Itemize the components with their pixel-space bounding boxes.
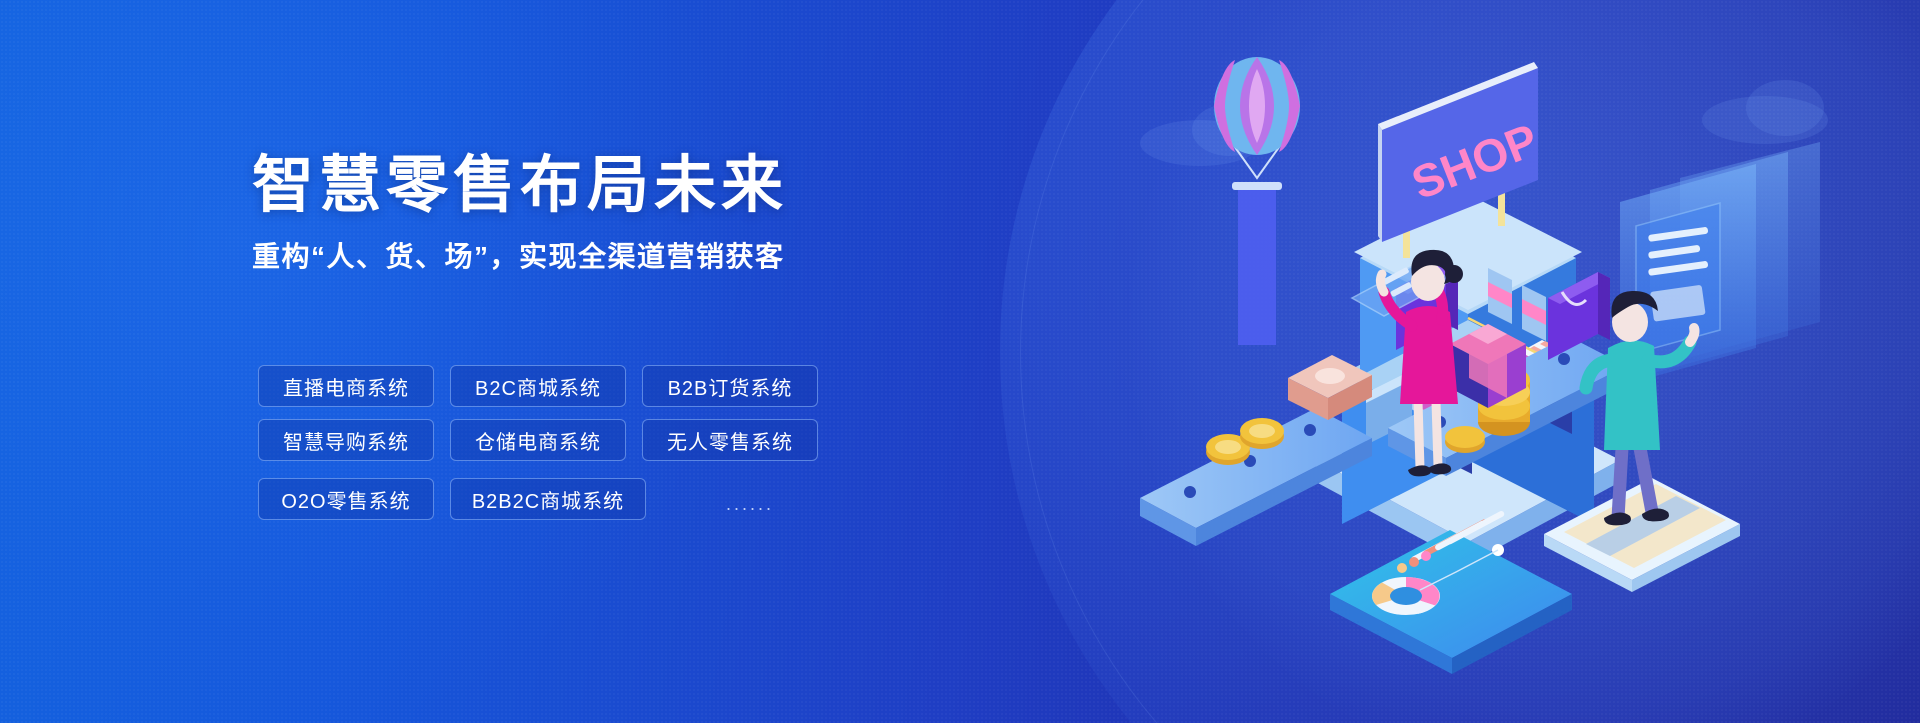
page-title: 智慧零售布局未来 — [252, 150, 972, 221]
solution-tag-grid: 直播电商系统 B2C商城系统 B2B订货系统 智慧导购系统 仓储电商系统 无人零… — [258, 365, 898, 537]
hero-copy: 智慧零售布局未来 重构“人、货、场”，实现全渠道营销获客 — [252, 150, 972, 276]
tag-more-ellipsis: ...... — [662, 473, 838, 525]
tag-o2o-retail[interactable]: O2O零售系统 — [258, 478, 434, 520]
tag-b2b2c-mall[interactable]: B2B2C商城系统 — [450, 478, 646, 520]
left-glow — [0, 0, 740, 723]
tag-row: 智慧导购系统 仓储电商系统 无人零售系统 — [258, 419, 898, 461]
tag-b2c-mall[interactable]: B2C商城系统 — [450, 365, 626, 407]
page-subtitle: 重构“人、货、场”，实现全渠道营销获客 — [252, 239, 972, 275]
tag-smart-guide[interactable]: 智慧导购系统 — [258, 419, 434, 461]
tag-row: 直播电商系统 B2C商城系统 B2B订货系统 — [258, 365, 898, 407]
donut-chart — [1372, 577, 1440, 615]
tag-b2b-ordering[interactable]: B2B订货系统 — [642, 365, 818, 407]
hot-air-balloon-icon — [1214, 57, 1300, 345]
smart-retail-illustration: SHOP — [1120, 30, 1900, 690]
hero-banner: 智慧零售布局未来 重构“人、货、场”，实现全渠道营销获客 直播电商系统 B2C商… — [0, 0, 1920, 723]
tag-live-commerce[interactable]: 直播电商系统 — [258, 365, 434, 407]
tag-warehouse-commerce[interactable]: 仓储电商系统 — [450, 419, 626, 461]
tag-unmanned-retail[interactable]: 无人零售系统 — [642, 419, 818, 461]
dashboard-tablet — [1330, 510, 1572, 674]
tag-row: O2O零售系统 B2B2C商城系统 ...... — [258, 473, 898, 525]
